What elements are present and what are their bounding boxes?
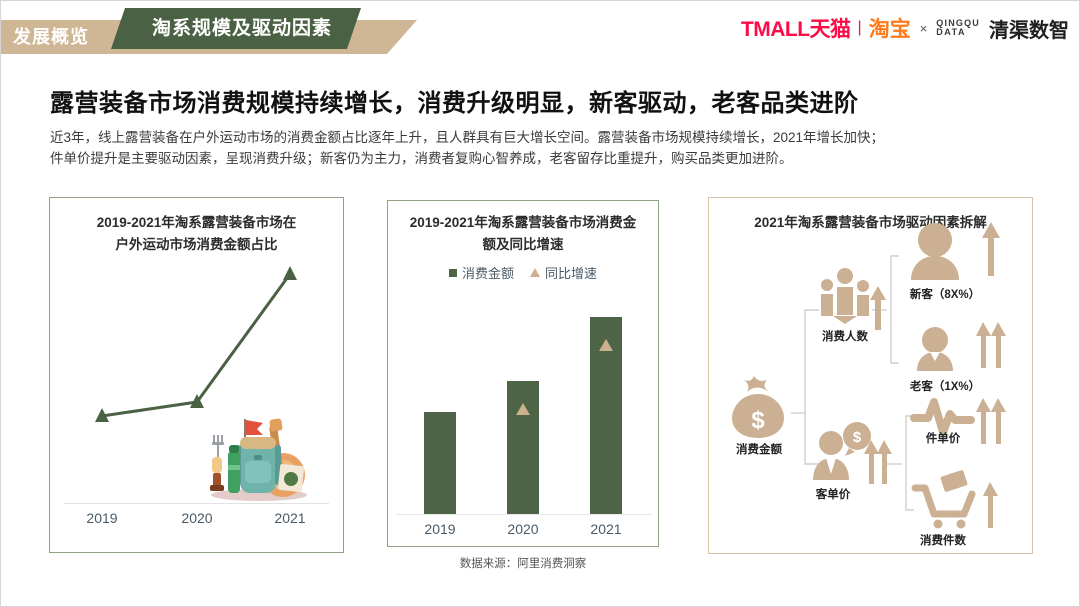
legend-square-icon xyxy=(449,269,457,277)
summary-paragraph: 近3年，线上露营装备在户外运动市场的消费金额占比逐年上升，且人群具有巨大增长空间… xyxy=(50,127,1048,169)
arrow-up-new-customer xyxy=(982,222,1000,276)
chart2-growth-marker-2020 xyxy=(516,403,530,415)
backpack-icon xyxy=(235,437,281,493)
arrow-up-quantity xyxy=(983,482,998,528)
brand-separator: | xyxy=(858,19,862,37)
pulse-icon xyxy=(914,402,971,432)
old-customer-avatar-icon xyxy=(917,327,953,371)
chart1-x-axis xyxy=(64,503,329,504)
connector-root-to-people xyxy=(805,310,819,413)
source-note: 数据来源：阿里消费洞察 xyxy=(387,555,659,571)
arrow-up-old-customer-1 xyxy=(976,322,991,368)
arrow-up-price-1 xyxy=(864,440,879,484)
arrow-up-unit-price-2 xyxy=(991,398,1006,444)
chart1-xtick-1: 2020 xyxy=(162,510,232,526)
chart-panel-bar: 2019-2021年淘系露营装备市场消费金 额及同比增速 消费金额 同比增速 2… xyxy=(387,200,659,547)
chart2-legend: 消费金额 同比增速 xyxy=(388,263,658,282)
shopping-cart-icon xyxy=(915,470,972,529)
svg-text:$: $ xyxy=(853,429,862,446)
new-customer-avatar-icon xyxy=(911,223,959,280)
chart2-title-line1: 2019-2021年淘系露营装备市场消费金 xyxy=(388,212,658,234)
brand-lockup: TMALL天猫 | 淘宝 × QINGQU DATA 清渠数智 xyxy=(741,13,1069,43)
cross-icon: × xyxy=(920,21,928,36)
legend-triangle-icon xyxy=(530,268,540,277)
chart2-xtick-0: 2019 xyxy=(405,521,475,537)
thermos-icon xyxy=(228,445,240,493)
chart1-xtick-0: 2019 xyxy=(67,510,137,526)
section-tab-tan-label: 发展概览 xyxy=(13,23,123,51)
arrow-up-people xyxy=(870,286,886,330)
map-icon xyxy=(278,464,305,492)
slide-header: 发展概览 淘系规模及驱动因素 TMALL天猫 | 淘宝 × QINGQU DAT… xyxy=(1,1,1080,61)
diagram-label-people: 消费人数 xyxy=(803,328,887,344)
chart2-legend-item-1: 同比增速 xyxy=(530,263,597,282)
section-tab-green-label: 淘系规模及驱动因素 xyxy=(137,12,347,45)
people-group-icon xyxy=(821,268,869,324)
qingqu-logo-line2: DATA xyxy=(936,28,980,37)
taobao-logo-text: 淘宝 xyxy=(869,13,911,43)
connector-people-bracket xyxy=(891,256,899,363)
chart-panel-line: 2019-2021年淘系露营装备市场在 户外运动市场消费金额占比 xyxy=(49,197,344,553)
summary-line-2: 件单价提升是主要驱动因素，呈现消费升级；新客仍为主力，消费者复购心智养成，老客留… xyxy=(50,148,1048,169)
chart1-xtick-2: 2021 xyxy=(255,510,325,526)
tmall-logo-text: TMALL天猫 xyxy=(741,13,851,43)
svg-text:$: $ xyxy=(751,407,765,434)
diagram-label-unit: 件单价 xyxy=(901,430,985,446)
chart2-xtick-1: 2020 xyxy=(488,521,558,537)
chart1-line-series xyxy=(102,274,290,416)
chart2-x-axis xyxy=(396,514,652,515)
chart2-bar-2020 xyxy=(507,381,539,514)
connector-root-to-price xyxy=(805,413,819,464)
diagram-label-new: 新客（8X%） xyxy=(897,286,993,302)
chart1-marker-2021 xyxy=(283,266,297,280)
qingqu-data-logo: QINGQU DATA xyxy=(936,19,980,37)
diagram-label-qty: 消费件数 xyxy=(901,532,985,548)
arrow-up-old-customer-2 xyxy=(991,322,1006,368)
page-title: 露营装备市场消费规模持续增长，消费升级明显，新客驱动，老客品类进阶 xyxy=(50,83,1040,118)
chart2-title: 2019-2021年淘系露营装备市场消费金 额及同比增速 xyxy=(388,212,658,256)
chart2-title-line2: 额及同比增速 xyxy=(388,234,658,256)
diagram-label-price: 客单价 xyxy=(791,486,875,502)
chart2-legend-item-0: 消费金额 xyxy=(449,263,514,282)
chart2-growth-marker-2021 xyxy=(599,339,613,351)
lantern-icon xyxy=(210,457,224,491)
diagram-label-old: 老客（1X%） xyxy=(897,378,993,394)
customer-price-icon: $ xyxy=(813,422,871,480)
driver-breakdown-panel: 2021年淘系露营装备市场驱动因素拆解 $ xyxy=(708,197,1033,554)
chart2-bar-2019 xyxy=(424,412,456,514)
qingqu-cn-text: 清渠数智 xyxy=(989,14,1069,43)
chart2-legend-label-1: 同比增速 xyxy=(545,263,597,282)
chart2-xtick-2: 2021 xyxy=(571,521,641,537)
diagram-label-root: 消费金额 xyxy=(717,441,801,457)
money-bag-icon: $ xyxy=(732,376,784,438)
slide: 发展概览 淘系规模及驱动因素 TMALL天猫 | 淘宝 × QINGQU DAT… xyxy=(0,0,1080,607)
chart2-legend-label-0: 消费金额 xyxy=(462,263,514,282)
arrow-up-price-2 xyxy=(877,440,892,484)
summary-line-1: 近3年，线上露营装备在户外运动市场的消费金额占比逐年上升，且人群具有巨大增长空间… xyxy=(50,127,1048,148)
camping-gear-illustration xyxy=(199,409,317,504)
